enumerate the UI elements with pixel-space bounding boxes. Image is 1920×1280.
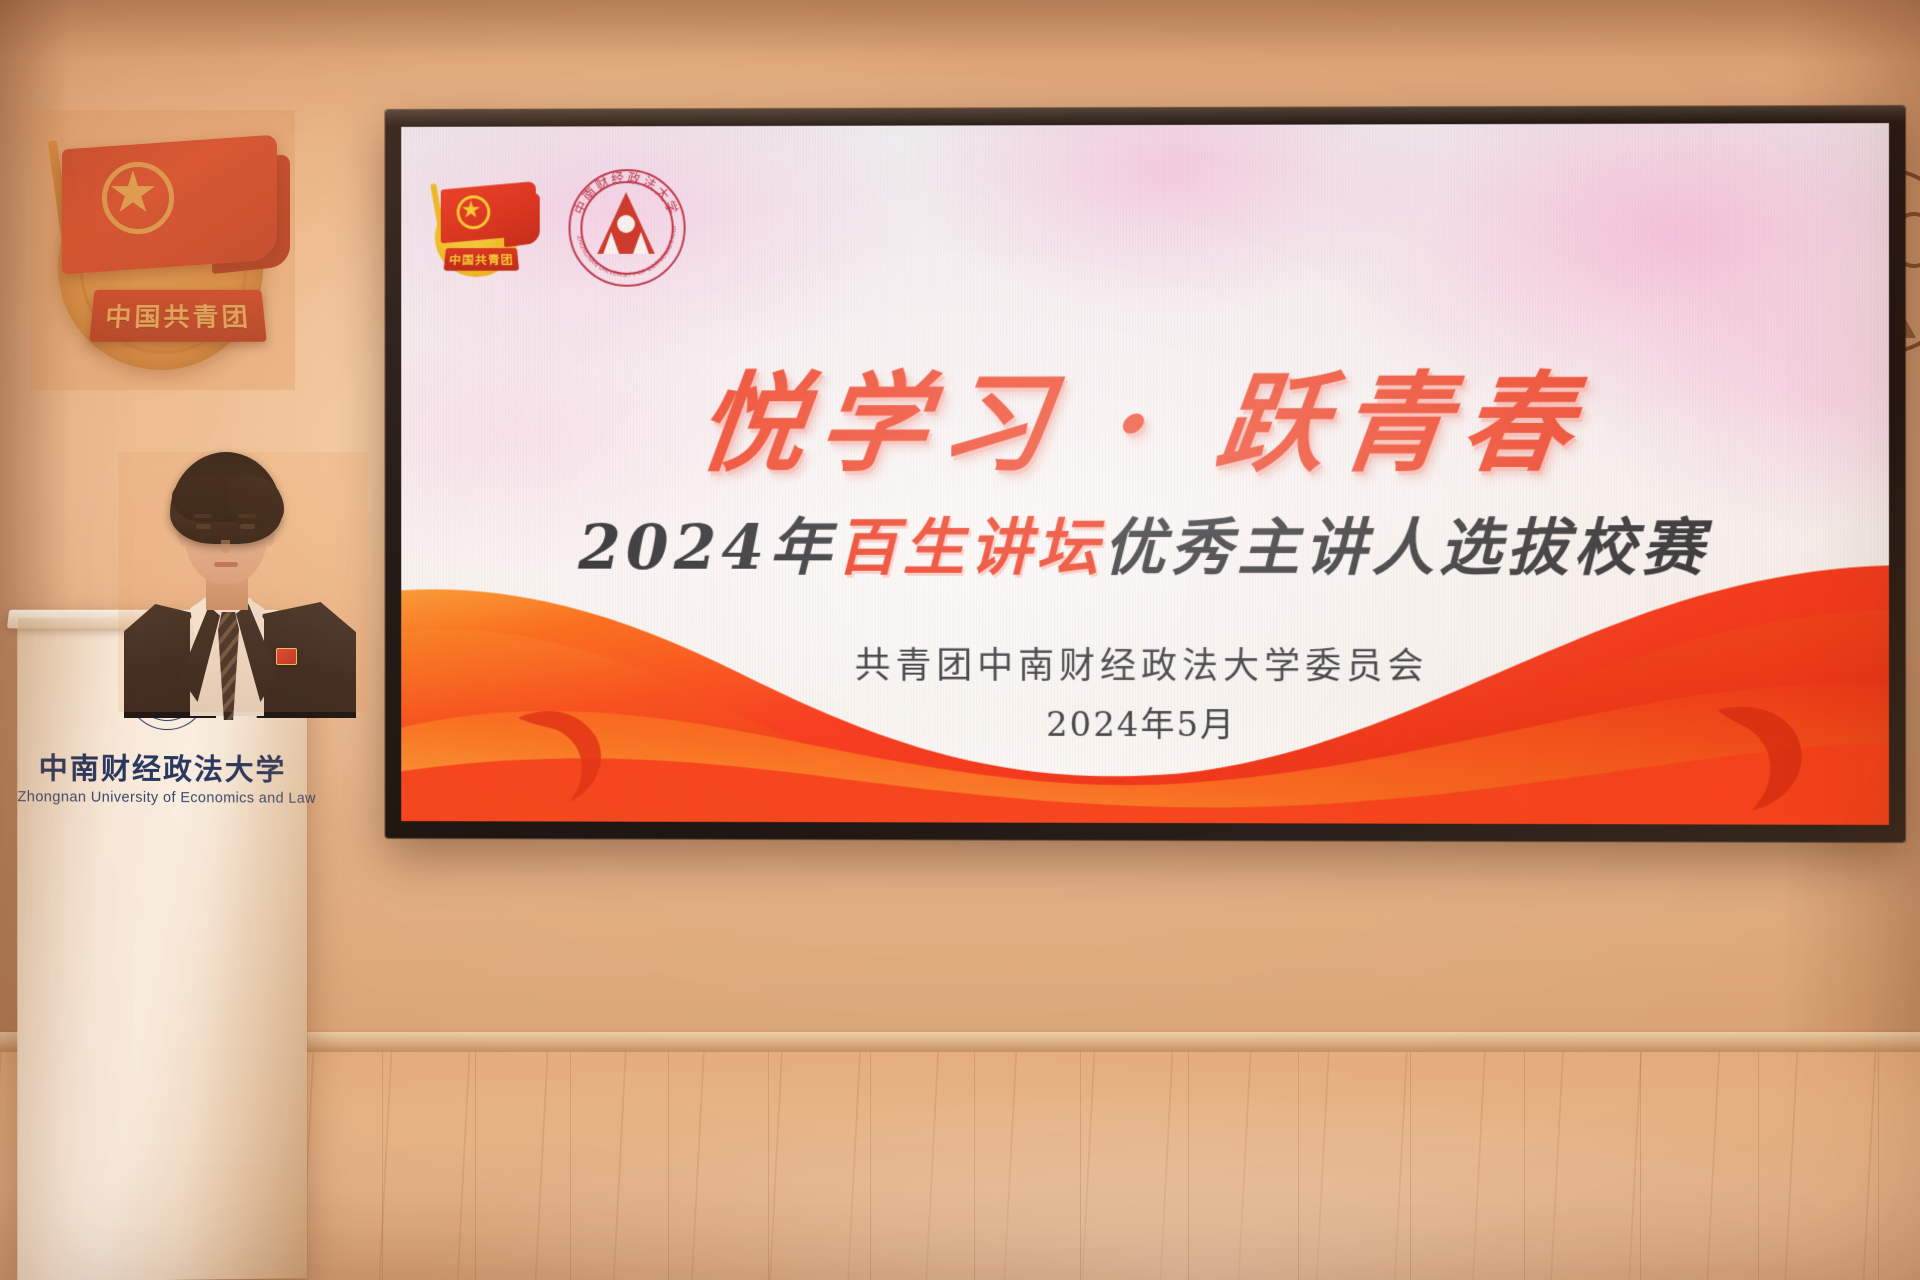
- floor-plank-line: [1188, 1052, 1189, 1280]
- eye-left: [196, 524, 211, 529]
- logo-banner-label: 中国共青团: [448, 251, 514, 267]
- red-lapel-badge-icon: [276, 648, 297, 665]
- floor-plank-line: [974, 1052, 975, 1280]
- emblem-banner: 中国共青团: [89, 290, 267, 342]
- podium-university-name-cn: 中南财经政法大学: [17, 745, 307, 789]
- slide-date: 2024年5月: [401, 696, 1889, 748]
- eyebrow-right: [238, 514, 256, 518]
- svg-text:中南财经政法大学: 中南财经政法大学: [572, 171, 681, 219]
- led-screen-display: 中国共青团 中南财经: [401, 123, 1889, 825]
- slide-main-title-text: 悦学习 · 跃青春: [690, 337, 1596, 494]
- auditorium-scene: 中国共青团: [0, 0, 1920, 1280]
- floor-plank-line: [1410, 1052, 1411, 1280]
- slide-subtitle-suffix: 优秀主讲人选拔校赛: [1103, 511, 1708, 584]
- slide-subtitle-highlight: 百生讲坛: [836, 511, 1103, 584]
- floor-plank-line: [1080, 1052, 1081, 1280]
- seal-arc-text: 中南财经政法大学 ZHONGNAN UNIVERSITY OF ECONOMIC…: [568, 168, 685, 286]
- floor-plank-line: [870, 1052, 871, 1280]
- emblem-banner-label: 中国共青团: [104, 298, 252, 334]
- slide-main-title: 悦学习 · 跃青春: [401, 336, 1889, 493]
- floor-plank-line: [1878, 1052, 1879, 1280]
- slide-subtitle: 2024年百生讲坛优秀主讲人选拔校赛: [401, 497, 1889, 588]
- slide-logo-row: 中国共青团 中南财经: [421, 168, 685, 286]
- floor-plank-line: [570, 1052, 571, 1280]
- floor-plank-line: [768, 1052, 769, 1280]
- floor-plank-line: [1758, 1052, 1759, 1280]
- mouth: [214, 562, 238, 567]
- slide-organizer: 共青团中南财经政法大学委员会: [401, 636, 1889, 690]
- podium-university-name-en: Zhongnan University of Economics and Law: [17, 789, 307, 807]
- wall-top-shadow: [0, 0, 1920, 60]
- logo-banner: 中国共青团: [444, 248, 520, 271]
- nose: [221, 540, 230, 553]
- led-screen-bezel: 中国共青团 中南财经: [385, 106, 1905, 842]
- floor-plank-line: [382, 1052, 383, 1280]
- floor-plank-line: [1524, 1052, 1525, 1280]
- floor-plank-line: [668, 1052, 669, 1280]
- floor-plank-line: [1640, 1052, 1641, 1280]
- youth-league-logo-icon: 中国共青团: [421, 175, 544, 279]
- communist-youth-league-emblem-icon: 中国共青团: [30, 110, 295, 390]
- university-seal-logo-icon: 中南财经政法大学 ZHONGNAN UNIVERSITY OF ECONOMIC…: [568, 168, 685, 286]
- floor-plank-line: [1298, 1052, 1299, 1280]
- student-speaker: [118, 452, 368, 712]
- eyebrow-left: [194, 514, 212, 518]
- eye-right: [240, 524, 255, 529]
- hair-fringe-side: [228, 476, 284, 528]
- slide-subtitle-prefix: 2024年: [578, 511, 836, 584]
- floor-plank-line: [475, 1052, 476, 1280]
